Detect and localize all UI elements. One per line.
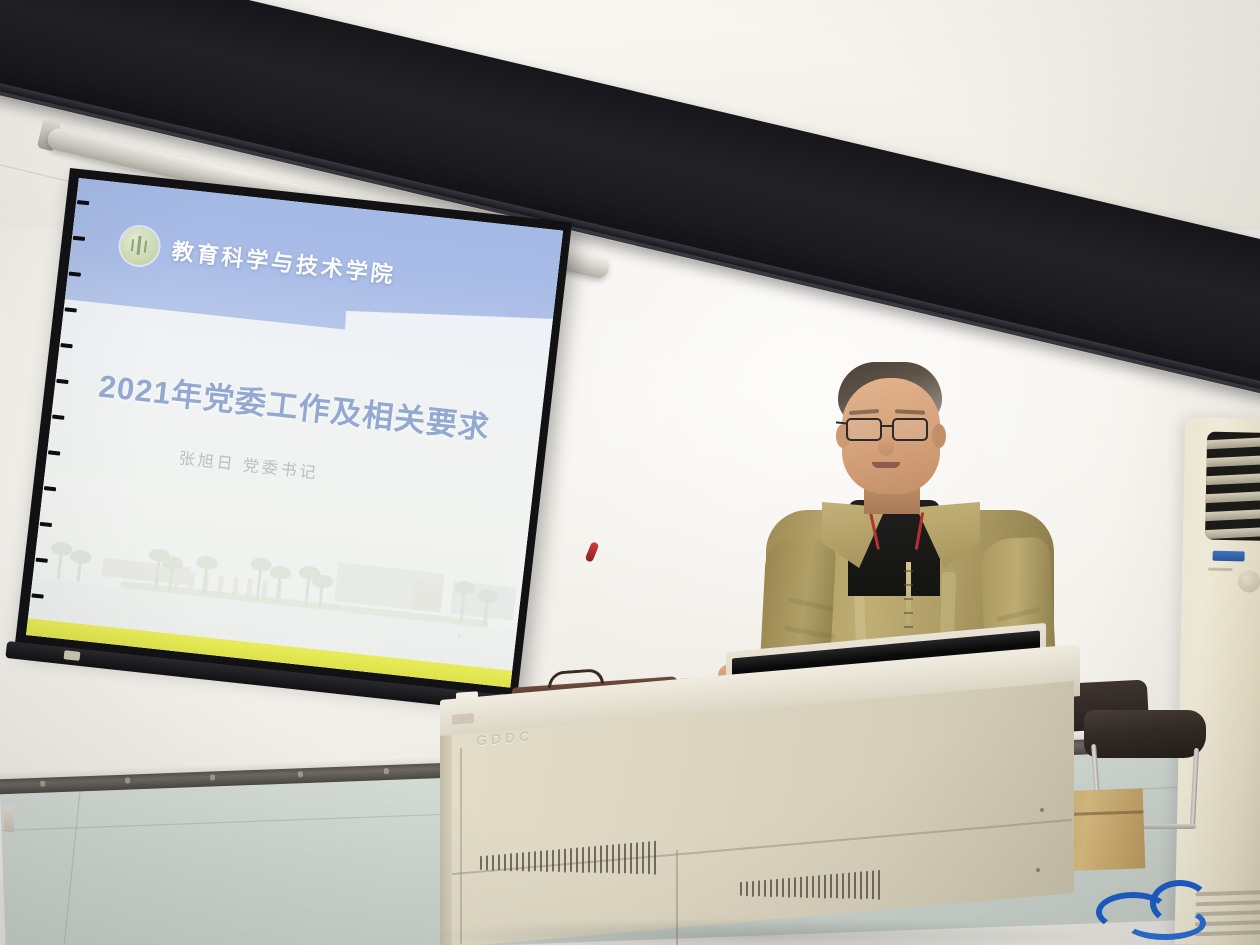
screen-frame: 教育科学与技术学院 2021年党委工作及相关要求 张旭日 党委书记 <box>15 168 572 699</box>
lectern[interactable]: GDDC <box>440 700 1080 945</box>
lectern-groove <box>460 748 462 944</box>
slide-organization-name: 教育科学与技术学院 <box>170 234 397 290</box>
eyeglasses-icon <box>846 418 882 441</box>
eyeglasses-bridge <box>882 425 892 427</box>
network-cables <box>1150 880 1210 926</box>
gooseneck-microphone[interactable] <box>458 574 461 698</box>
eyeglasses-icon <box>892 418 928 441</box>
presenter-mouth <box>872 462 900 468</box>
lectern-side-panel <box>440 735 452 945</box>
presentation-slide: 教育科学与技术学院 2021年党委工作及相关要求 张旭日 党委书记 <box>26 178 563 688</box>
chair-seat <box>1084 710 1206 758</box>
screen-canvas: 教育科学与技术学院 2021年党委工作及相关要求 张旭日 党委书记 <box>26 178 563 688</box>
slide-body: 2021年党委工作及相关要求 张旭日 党委书记 <box>26 299 549 687</box>
projection-screen: 教育科学与技术学院 2021年党委工作及相关要求 张旭日 党委书记 <box>15 168 572 699</box>
meeting-room-scene: 教育科学与技术学院 2021年党委工作及相关要求 张旭日 党委书记 <box>0 0 1260 945</box>
lectern-tag <box>452 713 474 725</box>
screen-bar-nub <box>64 650 81 661</box>
air-conditioner-vent <box>1205 432 1260 541</box>
slide-title: 2021年党委工作及相关要求 <box>97 361 493 448</box>
school-emblem-icon <box>118 225 160 267</box>
air-conditioner-knob[interactable] <box>1238 570 1260 592</box>
presenter-ear <box>932 424 946 448</box>
presenter-nose <box>878 436 894 456</box>
air-conditioner-display <box>1213 551 1245 562</box>
slide-subtitle: 张旭日 党委书记 <box>178 444 320 483</box>
wall-outlet-plate <box>4 806 14 832</box>
air-conditioner-label <box>1208 568 1232 572</box>
